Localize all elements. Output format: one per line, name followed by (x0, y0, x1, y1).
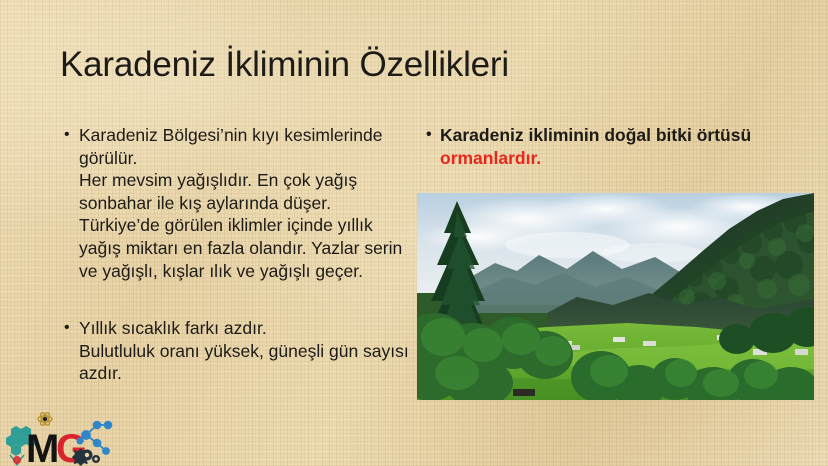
left-text-column: • Karadeniz Bölgesi’nin kıyı kesimlerind… (64, 124, 409, 385)
list-item-text: Yıllık sıcaklık farkı azdır. Bulutluluk … (79, 317, 409, 385)
logo-letter-m: M (26, 427, 59, 466)
forest-valley-photo (417, 193, 814, 400)
bullet-marker-icon: • (426, 124, 432, 147)
flask-icon (10, 455, 24, 465)
bullet-marker-icon: • (64, 317, 70, 340)
photo-illustration (417, 193, 814, 400)
list-item-text: Karadeniz ikliminin doğal bitki örtüsü o… (440, 124, 771, 169)
gear-icon (72, 449, 100, 466)
mg-logo: M G (2, 409, 114, 466)
list-item: • Karadeniz Bölgesi’nin kıyı kesimlerind… (64, 124, 409, 282)
slide-canvas: Karadeniz İkliminin Özellikleri • Karade… (0, 0, 828, 466)
atom-icon (38, 411, 52, 426)
page-title: Karadeniz İkliminin Özellikleri (60, 43, 760, 87)
logo-graphic: M G (2, 409, 114, 466)
list-item: • Yıllık sıcaklık farkı azdır. Bulutlulu… (64, 317, 409, 385)
right-text-column: • Karadeniz ikliminin doğal bitki örtüsü… (426, 124, 771, 169)
highlight-text: ormanlardır. (440, 148, 541, 168)
list-item: • Karadeniz ikliminin doğal bitki örtüsü… (426, 124, 771, 169)
bullet-marker-icon: • (64, 124, 70, 147)
list-item-text-plain: Karadeniz ikliminin doğal bitki örtüsü (440, 125, 751, 145)
list-item-text: Karadeniz Bölgesi’nin kıyı kesimlerinde … (79, 124, 409, 282)
